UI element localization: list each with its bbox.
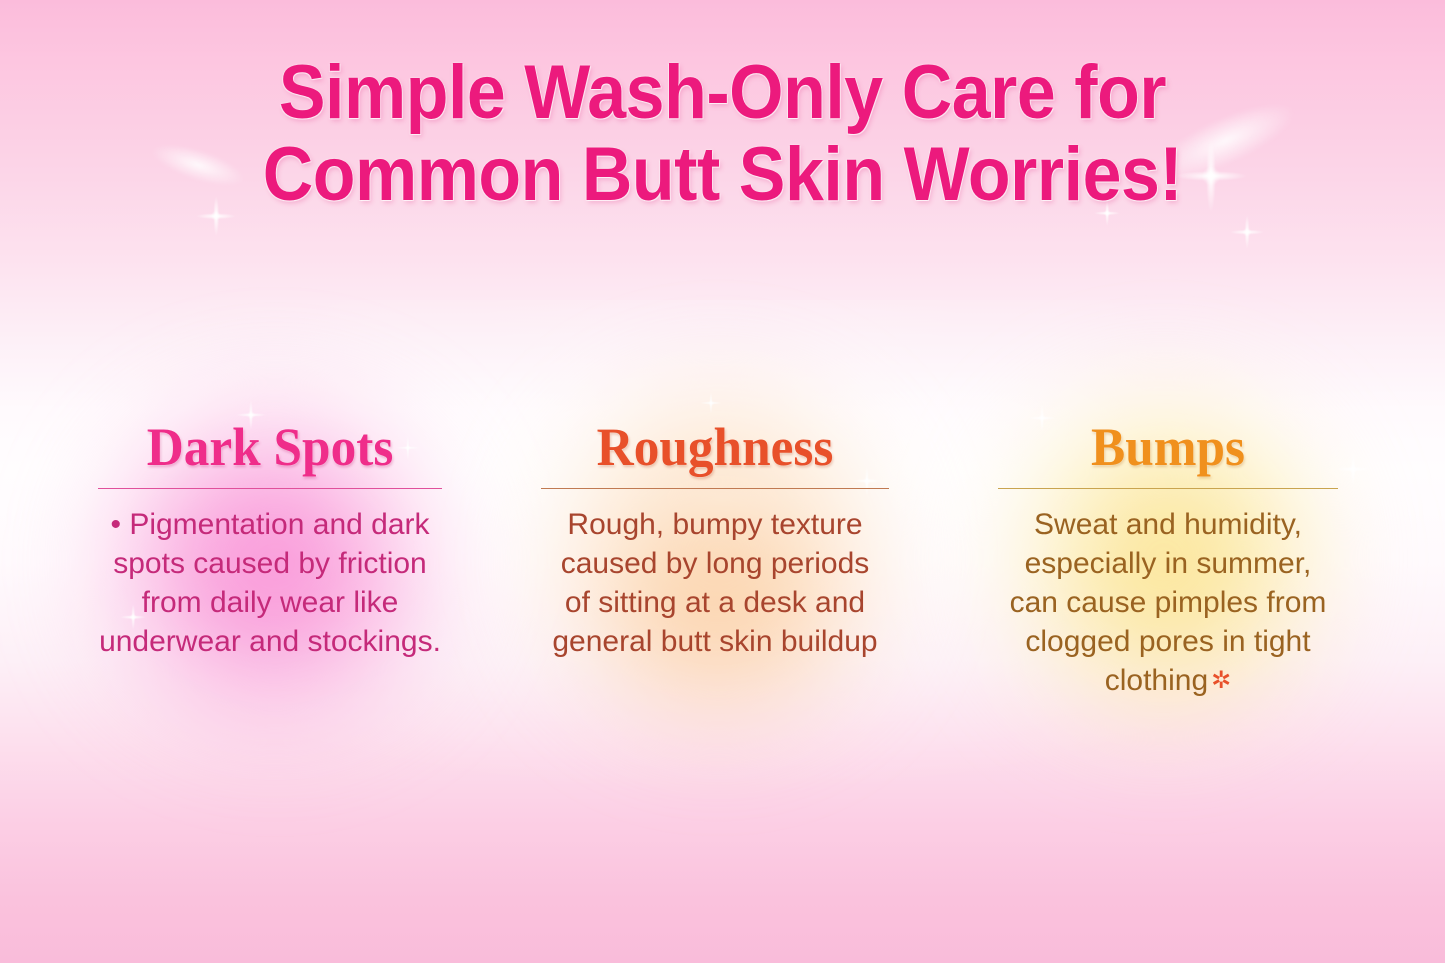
card-divider-dark-spots [98,488,442,489]
card-divider-roughness [541,488,889,489]
card-body-roughness: Rough, bumpy texture caused by long peri… [531,505,899,661]
card-heading-bumps: Bumps [969,418,1368,476]
card-body-bumps: Sweat and humidity, especially in summer… [968,505,1368,700]
card-body-dark-spots: • Pigmentation and dark spots caused by … [85,505,455,661]
title-line-1: Simple Wash-Only Care for [58,52,1387,134]
poster-canvas: Simple Wash-Only Care for Common Butt Sk… [0,0,1445,963]
card-divider-bumps [998,488,1338,489]
sparkle-icon [700,392,722,414]
sparkle-icon [1230,215,1264,249]
concern-card-roughness: Roughness Rough, bumpy texture caused by… [515,418,915,661]
title-line-2: Common Butt Skin Worries! [58,134,1387,216]
card-heading-roughness: Roughness [525,418,905,476]
card-heading-dark-spots: Dark Spots [80,418,460,476]
footnote-asterisk: ✲ [1211,667,1231,694]
page-title: Simple Wash-Only Care for Common Butt Sk… [58,52,1387,216]
concern-card-bumps: Bumps Sweat and humidity, especially in … [958,418,1378,700]
card-body-bumps-text: Sweat and humidity, especially in summer… [1010,508,1327,697]
concern-card-dark-spots: Dark Spots • Pigmentation and dark spots… [70,418,470,661]
